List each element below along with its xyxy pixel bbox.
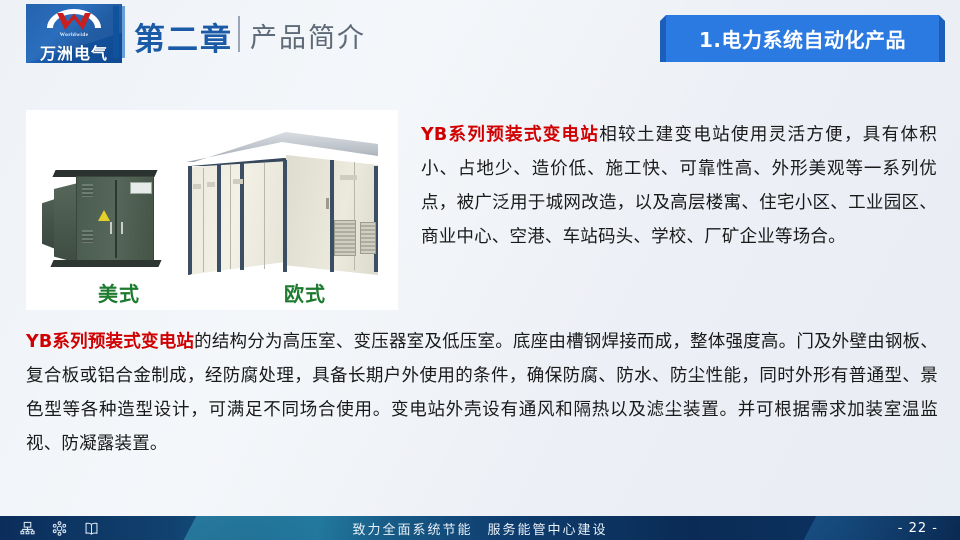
eu-tag-1 xyxy=(193,184,201,189)
eu-door-line-2 xyxy=(230,165,231,269)
section-subtitle: 产品简介 xyxy=(250,16,366,55)
paragraph-right: YB系列预装式变电站相较土建变电站使用灵活方便，具有体积小、占地少、造价低、施工… xyxy=(421,118,937,254)
eu-pillar-4 xyxy=(283,160,287,272)
worldwide-w-emblem-icon xyxy=(43,8,105,33)
topic-banner: 1.电力系统自动化产品 xyxy=(660,15,945,62)
eu-tag-2 xyxy=(207,182,215,187)
title-separator xyxy=(238,16,240,52)
paragraph-right-keyword: YB系列预装式变电站 xyxy=(421,125,599,145)
paragraph-bottom: YB系列预装式变电站的结构分为高压室、变压器室及低压室。底座由槽钢焊接而成，整体… xyxy=(26,325,938,461)
us-vent-top xyxy=(82,184,93,197)
product-figure: 美式 欧式 xyxy=(26,110,398,310)
us-door-handle-right xyxy=(121,222,123,234)
us-nameplate xyxy=(130,182,152,194)
eu-tag-3 xyxy=(233,179,243,184)
book-icon[interactable] xyxy=(84,521,99,536)
us-base xyxy=(50,260,161,267)
us-door-handle-left xyxy=(110,222,112,234)
eu-pillar-6 xyxy=(374,166,378,272)
eu-door-line-3 xyxy=(264,163,265,269)
eu-tag-4 xyxy=(340,175,357,180)
accent-bar-secondary xyxy=(122,6,125,58)
gear-icon[interactable] xyxy=(52,521,67,536)
company-logo: Worldwide 万洲电气 xyxy=(26,4,122,63)
eu-louver-vent-2 xyxy=(360,222,376,254)
eu-door-handle xyxy=(326,198,329,209)
us-side-panel xyxy=(54,183,78,263)
us-door-split xyxy=(115,180,117,258)
figure-caption-american: 美式 xyxy=(98,278,140,307)
paragraph-bottom-keyword: YB系列预装式变电站 xyxy=(26,332,194,352)
footer-icon-group xyxy=(20,516,99,540)
banner-label: 1.电力系统自动化产品 xyxy=(699,24,906,53)
eu-pillar-1 xyxy=(188,166,192,274)
chapter-label: 第二章 xyxy=(134,14,233,59)
footer-slogan: 致力全面系统节能 服务能管中心建设 xyxy=(0,516,960,540)
warning-triangle-icon xyxy=(98,210,110,221)
slide-header: Worldwide 万洲电气 第二章 产品简介 1.电力系统自动化产品 xyxy=(0,0,960,70)
us-vent-bottom xyxy=(82,230,93,243)
slide-footer: 致力全面系统节能 服务能管中心建设 - 22 - xyxy=(0,516,960,540)
logo-english-name: Worldwide xyxy=(26,32,122,38)
eu-roof xyxy=(186,132,378,162)
banner-body: 1.电力系统自动化产品 xyxy=(666,15,939,62)
eu-louver-vent-1 xyxy=(334,220,356,256)
slide-canvas: Worldwide 万洲电气 第二章 产品简介 1.电力系统自动化产品 xyxy=(0,0,960,540)
sitemap-icon[interactable] xyxy=(20,521,35,536)
eu-door-line-1 xyxy=(203,168,204,272)
accent-bar-primary xyxy=(113,6,119,58)
eu-pillar-2 xyxy=(217,164,221,272)
logo-chinese-name: 万洲电气 xyxy=(26,40,122,63)
figure-caption-european: 欧式 xyxy=(284,278,326,307)
page-number: - 22 - xyxy=(898,516,938,540)
